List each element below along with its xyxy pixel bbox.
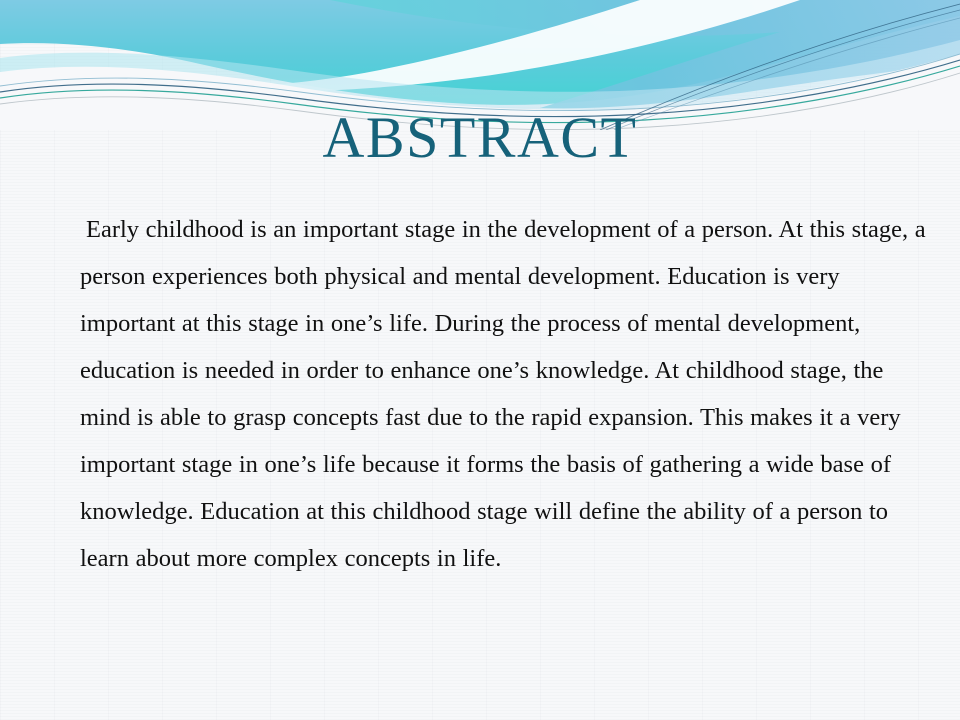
body-block: Early childhood is an important stage in… [80, 206, 930, 582]
page-title: ABSTRACT [323, 108, 638, 169]
presentation-slide: ABSTRACT Early childhood is an important… [0, 0, 960, 720]
title-block: ABSTRACT [0, 108, 960, 169]
abstract-paragraph: Early childhood is an important stage in… [80, 206, 930, 582]
